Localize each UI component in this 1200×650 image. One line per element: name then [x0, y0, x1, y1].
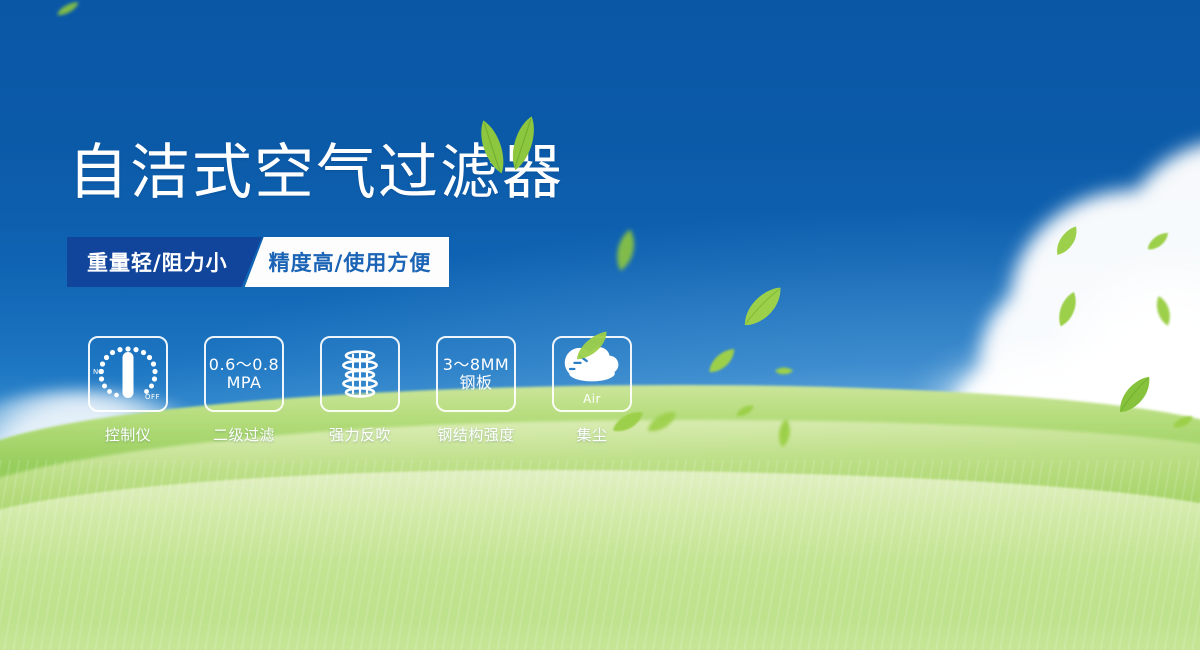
feature-label: 集尘 — [576, 424, 607, 445]
pressure-unit: MPA — [209, 374, 279, 392]
subtitle-left-segment: 重量轻/阻力小 — [67, 237, 262, 287]
filter-cartridge-icon — [332, 347, 388, 401]
dial-off-label: OFF — [145, 393, 160, 401]
feature-icon-box: NO OFF — [88, 336, 168, 412]
dial-on-label: NO — [93, 368, 105, 376]
feature-label: 钢结构强度 — [437, 424, 515, 445]
steel-material: 钢板 — [443, 374, 509, 392]
subtitle-bar: 重量轻/阻力小 精度高/使用方便 — [67, 237, 449, 287]
grass-texture — [0, 460, 1200, 650]
feature-list: NO OFF 控制仪 0.6～0.8 MPA 二级过滤 — [70, 336, 650, 445]
subtitle-right-segment: 精度高/使用方便 — [245, 237, 450, 287]
feature-icon-box: 0.6～0.8 MPA — [204, 336, 284, 412]
pressure-text-icon: 0.6～0.8 MPA — [209, 356, 279, 392]
feature-label: 强力反吹 — [329, 424, 391, 445]
feature-icon-box: 3～8MM 钢板 — [436, 336, 516, 412]
feature-item-steel[interactable]: 3～8MM 钢板 钢结构强度 — [418, 336, 534, 445]
feature-icon-box — [320, 336, 400, 412]
feature-label: 控制仪 — [105, 424, 152, 445]
dial-pointer — [123, 352, 134, 398]
feature-item-controller[interactable]: NO OFF 控制仪 — [70, 336, 186, 445]
pressure-value: 0.6～0.8 — [209, 356, 279, 374]
product-banner: 自洁式空气过滤器 重量轻/阻力小 精度高/使用方便 — [0, 0, 1200, 650]
steel-thickness: 3～8MM — [443, 356, 509, 374]
air-label: Air — [554, 392, 630, 406]
feature-label: 二级过滤 — [213, 424, 275, 445]
controller-dial-icon: NO OFF — [92, 341, 164, 407]
feature-item-backblow[interactable]: 强力反吹 — [302, 336, 418, 445]
feature-item-pressure[interactable]: 0.6～0.8 MPA 二级过滤 — [186, 336, 302, 445]
steel-plate-text-icon: 3～8MM 钢板 — [443, 356, 509, 392]
